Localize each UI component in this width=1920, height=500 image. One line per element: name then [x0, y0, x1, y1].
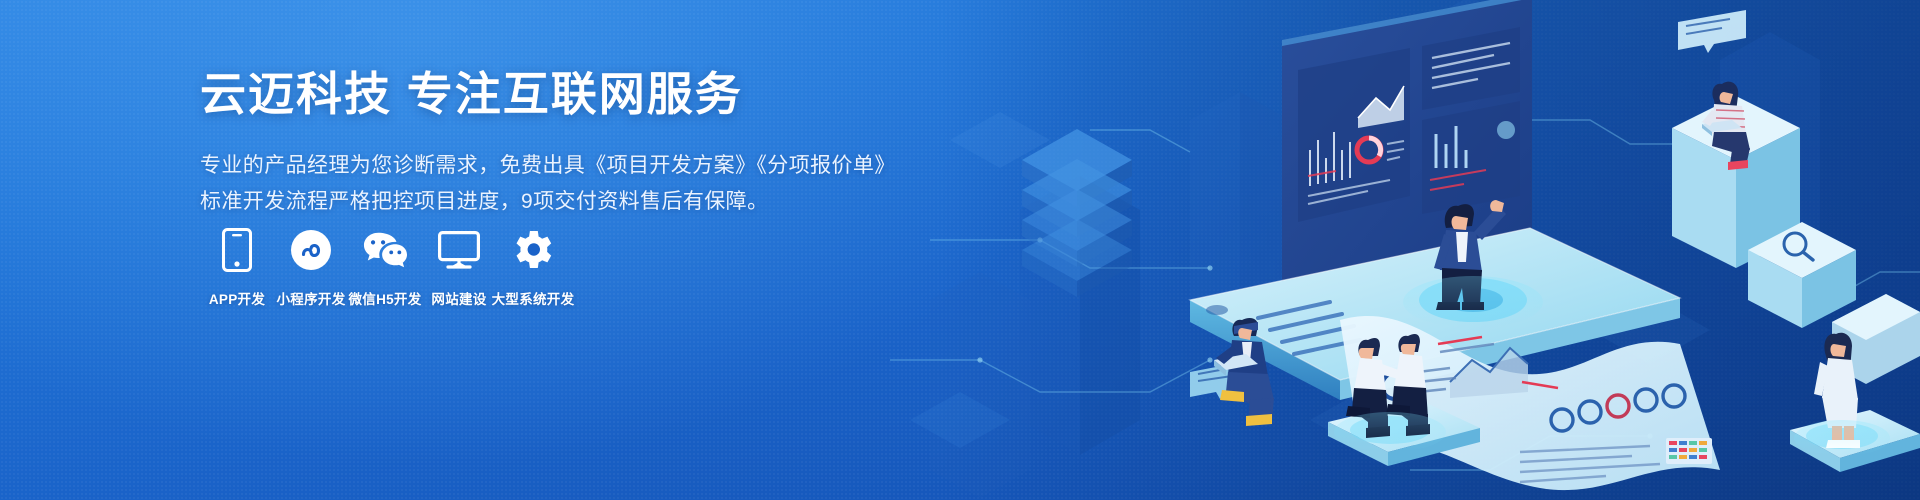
mini-program-icon	[289, 228, 333, 272]
wechat-icon	[363, 228, 407, 272]
hero-subtitle: 专业的产品经理为您诊断需求，免费出具《项目开发方案》《分项报价单》 标准开发流程…	[200, 148, 920, 220]
service-item-app[interactable]: APP开发	[200, 228, 274, 308]
service-label: 微信H5开发	[348, 288, 421, 308]
monitor-icon	[437, 228, 481, 272]
page-title: 云迈科技 专注互联网服务	[200, 66, 920, 124]
ribbon-color-grid	[1666, 438, 1712, 464]
subtitle-line-1: 专业的产品经理为您诊断需求，免费出具《项目开发方案》《分项报价单》	[200, 148, 920, 184]
gear-icon	[511, 228, 555, 272]
hero-copy: 云迈科技 专注互联网服务 专业的产品经理为您诊断需求，免费出具《项目开发方案》《…	[200, 66, 920, 220]
illustration-isometric-tech	[890, 0, 1920, 500]
service-label: 网站建设	[431, 288, 486, 308]
service-item-wechat-h5[interactable]: 微信H5开发	[348, 228, 422, 308]
hero-banner: 云迈科技 专注互联网服务 专业的产品经理为您诊断需求，免费出具《项目开发方案》《…	[0, 0, 1920, 500]
service-item-large-system[interactable]: 大型系统开发	[496, 228, 570, 308]
service-label: APP开发	[209, 288, 265, 308]
service-label: 大型系统开发	[492, 288, 575, 308]
mobile-phone-icon	[215, 228, 259, 272]
screen-touch-glow	[1497, 121, 1515, 139]
tablet-home-button	[1206, 305, 1228, 315]
service-item-miniprogram[interactable]: 小程序开发	[274, 228, 348, 308]
service-list: APP开发 小程序开发 微信	[200, 228, 570, 308]
subtitle-line-2: 标准开发流程严格把控项目进度，9项交付资料售后有保障。	[200, 184, 920, 220]
service-label: 小程序开发	[277, 288, 346, 308]
floating-mini-card-top	[1678, 10, 1746, 53]
server-stack	[1022, 129, 1132, 297]
service-item-website[interactable]: 网站建设	[422, 228, 496, 308]
